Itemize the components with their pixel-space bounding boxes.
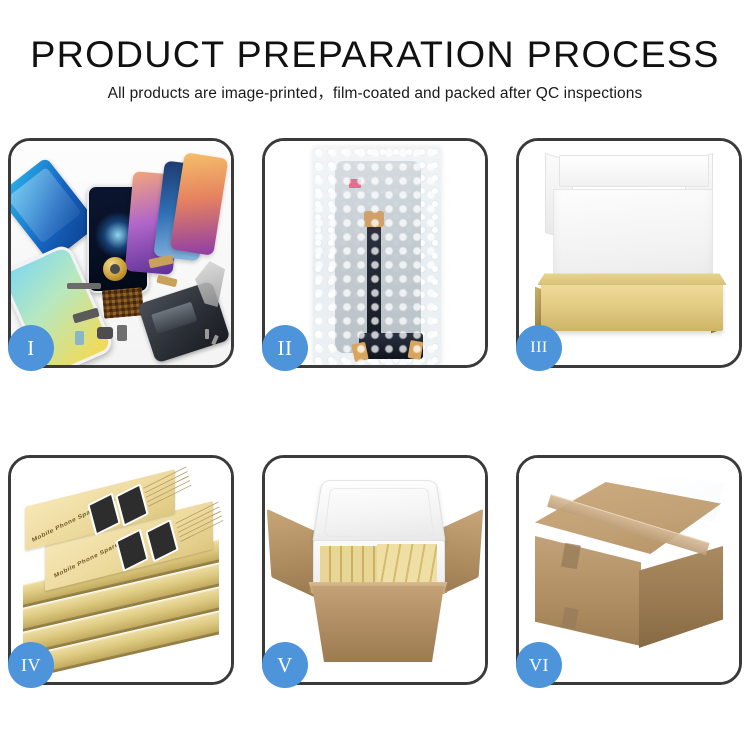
process-step-card-3[interactable]: III [516,138,742,368]
process-step-card-5[interactable]: V [262,455,488,685]
process-step-card-4[interactable]: Mobile Phone Spare Parts Mobile Phone Sp… [8,455,234,685]
page-header: PRODUCT PREPARATION PROCESS All products… [0,0,750,104]
button-part [97,327,113,339]
process-steps-grid: I II [8,138,742,685]
box-lid-top [559,155,709,187]
box-thumb-lower-a [115,528,148,572]
screw-part-a [205,329,209,339]
small-sensor-part [75,331,84,345]
qc-sticker [349,179,361,188]
step-badge-2: II [262,325,308,371]
bubble-wrap-bag [313,147,441,365]
carton-side-face [639,546,723,648]
camera-module-part [103,257,127,281]
process-step-card-1[interactable]: I [8,138,234,368]
carton-front-face [535,536,641,646]
packed-yellow-boxes-row-b [377,544,437,588]
step-badge-1: I [8,325,54,371]
box-thumb-lower-b [145,519,178,563]
product-preparation-process-page: PRODUCT PREPARATION PROCESS All products… [0,0,750,750]
step-badge-4: IV [8,642,54,688]
screen-flex-cable [367,225,381,345]
foam-box-lid [312,480,447,547]
carton-body [303,586,453,662]
kraft-box-base [541,283,723,331]
chip-array-part [102,287,144,318]
page-subtitle: All products are image-printed，film-coat… [0,84,750,104]
speaker-strip-part [67,283,101,289]
process-step-card-2[interactable]: II [262,138,488,368]
box-checklist-lower [175,499,223,542]
step-badge-6: VI [516,642,562,688]
box-checklist-upper [143,464,191,507]
step-badge-3: III [516,325,562,371]
page-title: PRODUCT PREPARATION PROCESS [0,33,750,77]
step-badge-5: V [262,642,308,688]
flex-cable-part-b [156,275,177,288]
box-stack: Mobile Phone Spare Parts Mobile Phone Sp… [17,476,231,674]
process-step-card-6[interactable]: VI [516,455,742,685]
battery-connector-part [117,325,127,341]
